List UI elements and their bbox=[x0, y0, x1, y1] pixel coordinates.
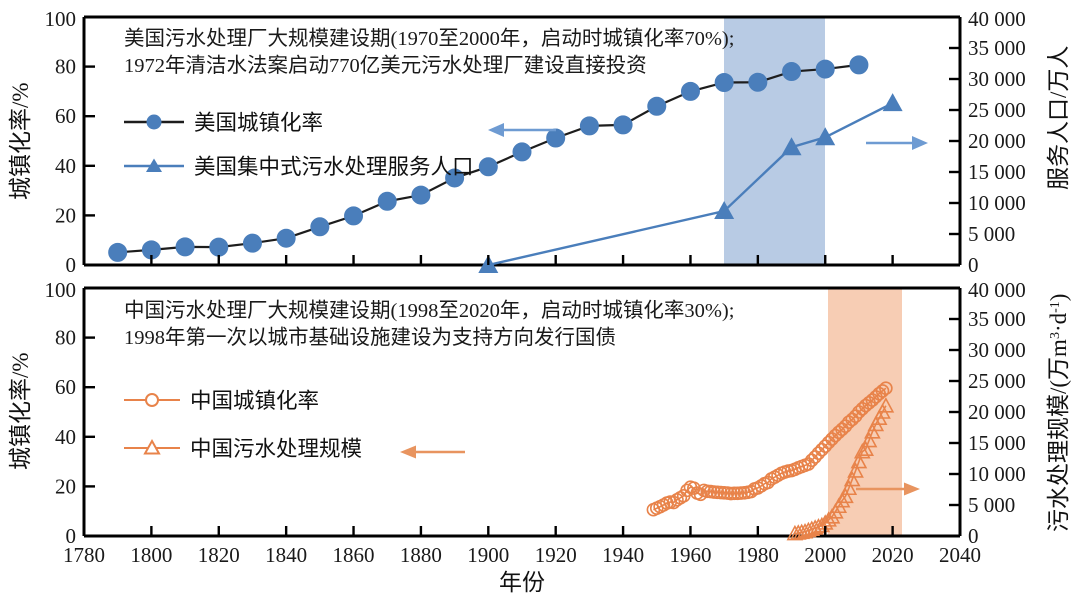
legend-label-cn-capacity: 中国污水处理规模 bbox=[190, 437, 362, 461]
panel-bottom-right-axis-label-sup1: 3 bbox=[1048, 332, 1063, 339]
x-tick-label: 1980 bbox=[737, 543, 779, 567]
panel-bottom-right-ticks bbox=[949, 319, 960, 505]
panel-top-legend: 美国城镇化率 美国集中式污水处理服务人口 bbox=[124, 111, 474, 179]
panel-top-right-tick-40000: 40 000 bbox=[968, 7, 1026, 31]
data-point bbox=[311, 218, 329, 236]
panel-bottom-annotation-line1: 中国污水处理厂大规模建设期(1998至2020年，启动时城镇化率30%); bbox=[124, 299, 734, 322]
figure-root: 0 20 40 60 80 100 城镇化率/% 0 5 000 10 000 … bbox=[0, 0, 1080, 597]
series-line bbox=[488, 103, 892, 265]
panel-top-left-tick-100: 100 bbox=[45, 7, 77, 31]
x-tick-label: 1880 bbox=[400, 543, 442, 567]
data-point bbox=[614, 116, 632, 134]
data-point bbox=[109, 243, 127, 261]
data-point bbox=[816, 60, 834, 78]
data-point bbox=[176, 238, 194, 256]
panel-top-right-tick-15000: 15 000 bbox=[968, 160, 1026, 184]
panel-bottom-right-axis-label-sup2: -1 bbox=[1048, 301, 1063, 313]
data-point bbox=[479, 158, 497, 176]
data-point bbox=[412, 186, 430, 204]
right-arrow-icon-top bbox=[866, 136, 928, 150]
panel-bottom-right-axis-label: 污水处理规模/(万m3·d-1) bbox=[1046, 294, 1071, 532]
dual-panel-urbanization-chart: 0 20 40 60 80 100 城镇化率/% 0 5 000 10 000 … bbox=[0, 0, 1080, 597]
panel-bottom-right-axis-label-mid: ·d bbox=[1046, 312, 1071, 332]
panel-bottom-annotation-line2: 1998年第一次以城市基础设施建设为支持方向发行国债 bbox=[124, 326, 616, 349]
panel-top-annotation-line1: 美国污水处理厂大规模建设期(1970至2000年，启动时城镇化率70%); bbox=[124, 27, 734, 50]
panel-bottom-left-tick-20: 20 bbox=[55, 474, 76, 498]
x-tick-label: 1820 bbox=[198, 543, 240, 567]
x-axis-label: 年份 bbox=[499, 570, 545, 595]
panel-top-left-tick-80: 80 bbox=[55, 55, 76, 79]
x-tick-label: 1940 bbox=[602, 543, 644, 567]
panel-top-annotation-line2: 1972年清洁水法案启动770亿美元污水处理厂建设直接投资 bbox=[124, 54, 647, 77]
panel-top: 0 20 40 60 80 100 城镇化率/% 0 5 000 10 000 … bbox=[8, 7, 1071, 277]
panel-bottom-left-tick-80: 80 bbox=[55, 326, 76, 350]
panel-top-right-tick-20000: 20 000 bbox=[968, 129, 1026, 153]
data-point bbox=[513, 143, 531, 161]
panel-top-right-tick-35000: 35 000 bbox=[968, 36, 1026, 60]
panel-top-right-tick-0: 0 bbox=[968, 253, 979, 277]
data-point bbox=[783, 63, 801, 81]
left-arrow-icon-bottom bbox=[400, 446, 465, 459]
panel-bottom-left-tick-60: 60 bbox=[55, 375, 76, 399]
legend-entry-cn-urbanization: 中国城镇化率 bbox=[124, 389, 319, 413]
data-point bbox=[648, 97, 666, 115]
panel-top-right-tick-30000: 30 000 bbox=[968, 67, 1026, 91]
panel-bottom-right-tick-30000: 30 000 bbox=[968, 338, 1026, 362]
x-tick-label: 1860 bbox=[333, 543, 375, 567]
panel-top-left-ticks bbox=[84, 67, 95, 265]
panel-bottom-left-ticks bbox=[84, 338, 95, 536]
x-tick-label: 1780 bbox=[63, 543, 105, 567]
panel-bottom-right-tick-5000: 5 000 bbox=[968, 493, 1015, 517]
panel-top-left-tick-40: 40 bbox=[55, 154, 76, 178]
panel-bottom-right-tick-15000: 15 000 bbox=[968, 431, 1026, 455]
panel-bottom-right-tick-10000: 10 000 bbox=[968, 462, 1026, 486]
panel-bottom-left-axis-label: 城镇化率/% bbox=[8, 352, 33, 470]
data-point bbox=[681, 82, 699, 100]
legend-entry-cn-capacity: 中国污水处理规模 bbox=[124, 437, 362, 461]
legend-label-us-population: 美国集中式污水处理服务人口 bbox=[194, 155, 474, 179]
panel-top-right-ticks bbox=[949, 48, 960, 234]
data-point bbox=[243, 234, 261, 252]
panel-bottom-legend: 中国城镇化率 中国污水处理规模 bbox=[124, 389, 362, 461]
data-point bbox=[210, 238, 228, 256]
x-axis-tick-labels: 1780180018201840186018801900192019401960… bbox=[63, 543, 981, 567]
data-point bbox=[580, 117, 598, 135]
panel-top-left-axis-label: 城镇化率/% bbox=[8, 82, 33, 200]
legend-label-us-urbanization: 美国城镇化率 bbox=[194, 111, 323, 135]
x-tick-label: 2040 bbox=[939, 543, 981, 567]
panel-bottom-left-tick-100: 100 bbox=[45, 278, 77, 302]
data-point bbox=[850, 56, 868, 74]
panel-bottom-right-axis-label-main: 污水处理规模/(万m bbox=[1046, 339, 1071, 532]
data-point bbox=[547, 129, 565, 147]
left-arrow-icon-top bbox=[488, 123, 556, 137]
x-tick-label: 1960 bbox=[669, 543, 711, 567]
panel-bottom-right-tick-25000: 25 000 bbox=[968, 369, 1026, 393]
legend-entry-us-urbanization: 美国城镇化率 bbox=[124, 111, 323, 135]
data-point bbox=[883, 93, 903, 111]
legend-label-cn-urbanization: 中国城镇化率 bbox=[190, 389, 319, 413]
x-tick-label: 1920 bbox=[535, 543, 577, 567]
panel-top-left-tick-60: 60 bbox=[55, 104, 76, 128]
data-point bbox=[345, 207, 363, 225]
x-tick-label: 1800 bbox=[130, 543, 172, 567]
series-us-served-population bbox=[478, 93, 902, 273]
data-point bbox=[277, 229, 295, 247]
panel-top-right-tick-5000: 5 000 bbox=[968, 222, 1015, 246]
panel-top-left-tick-20: 20 bbox=[55, 203, 76, 227]
x-tick-label: 2000 bbox=[804, 543, 846, 567]
legend-entry-us-population: 美国集中式污水处理服务人口 bbox=[124, 155, 474, 179]
panel-bottom-right-tick-40000: 40 000 bbox=[968, 278, 1026, 302]
panel-bottom-right-axis-label-end: ) bbox=[1046, 294, 1071, 302]
panel-top-right-tick-10000: 10 000 bbox=[968, 191, 1026, 215]
data-point bbox=[715, 73, 733, 91]
panel-bottom: 0 20 40 60 80 100 城镇化率/% 0 5 000 10 000 … bbox=[8, 278, 1071, 548]
data-point bbox=[749, 73, 767, 91]
panel-top-right-axis-label: 服务人口/万人 bbox=[1046, 46, 1071, 190]
x-tick-label: 1900 bbox=[467, 543, 509, 567]
data-point bbox=[378, 192, 396, 210]
panel-bottom-right-tick-35000: 35 000 bbox=[968, 307, 1026, 331]
x-tick-label: 1840 bbox=[265, 543, 307, 567]
panel-bottom-left-tick-40: 40 bbox=[55, 425, 76, 449]
panel-top-left-tick-0: 0 bbox=[66, 253, 77, 277]
panel-top-right-tick-25000: 25 000 bbox=[968, 98, 1026, 122]
x-tick-label: 2020 bbox=[872, 543, 914, 567]
panel-bottom-right-tick-20000: 20 000 bbox=[968, 400, 1026, 424]
